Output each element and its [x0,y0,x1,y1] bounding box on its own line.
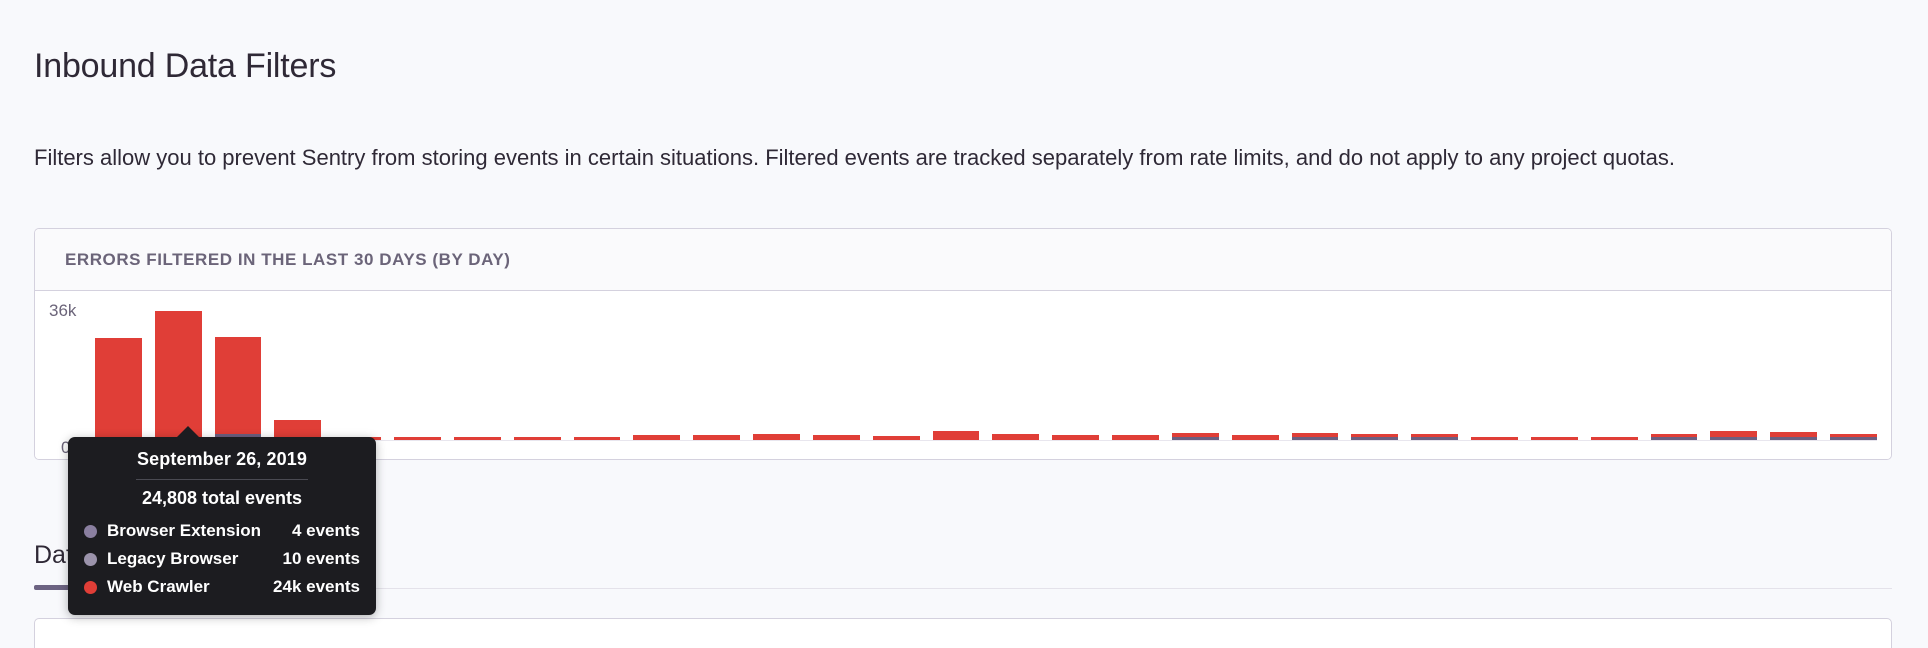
bar-segment [1651,437,1698,440]
bar-segment [1172,437,1219,440]
bar-column[interactable] [933,299,980,440]
bar-segment [1052,435,1099,441]
bar-column[interactable] [155,299,202,440]
bar-series-container [95,299,1877,440]
bar-column[interactable] [1351,299,1398,440]
bar-segment [813,435,860,440]
bar-segment [992,434,1039,440]
bar-column[interactable] [274,299,321,440]
tooltip-row: Browser Extension4 events [68,517,376,545]
bar-column[interactable] [334,299,381,440]
bar-segment [693,435,740,440]
bar-segment [155,311,202,440]
tooltip-series-label: Browser Extension [107,521,292,541]
bar-column[interactable] [753,299,800,440]
bar-segment [215,337,262,434]
tooltip-row: Web Crawler24k events [68,573,376,601]
tooltip-arrow-icon [176,426,200,438]
bar-column[interactable] [95,299,142,440]
chart-plot-area: 36k 0 [35,291,1891,460]
bar-segment [1830,437,1877,440]
bar-column[interactable] [1531,299,1578,440]
bar-segment [933,431,980,440]
tooltip-divider [136,479,308,480]
bar-column[interactable] [813,299,860,440]
bar-segment [633,435,680,441]
errors-filtered-chart-panel: ERRORS FILTERED IN THE LAST 30 DAYS (BY … [34,228,1892,460]
chart-panel-header: ERRORS FILTERED IN THE LAST 30 DAYS (BY … [35,229,1891,291]
bar-column[interactable] [1770,299,1817,440]
page-title: Inbound Data Filters [34,47,336,86]
bar-segment [1232,435,1279,441]
bar-column[interactable] [873,299,920,440]
bar-segment [1710,437,1757,440]
bar-segment [1770,437,1817,440]
tooltip-series-value: 10 events [283,549,361,569]
bar-segment [1292,437,1339,440]
bar-segment [574,437,621,440]
bar-column[interactable] [1830,299,1877,440]
tooltip-total: 24,808 total events [68,488,376,517]
bar-column[interactable] [1172,299,1219,440]
bar-column[interactable] [633,299,680,440]
bar-column[interactable] [1471,299,1518,440]
bar-column[interactable] [992,299,1039,440]
bar-column[interactable] [1232,299,1279,440]
tooltip-series-value: 4 events [292,521,360,541]
page-description: Filters allow you to prevent Sentry from… [34,139,1879,177]
data-filters-panel [34,618,1892,648]
bar-column[interactable] [514,299,561,440]
chart-panel-title: ERRORS FILTERED IN THE LAST 30 DAYS (BY … [65,250,511,270]
bar-segment [95,338,142,440]
bar-column[interactable] [1112,299,1159,440]
bar-column[interactable] [1052,299,1099,440]
bar-column[interactable] [454,299,501,440]
series-color-dot-icon [84,581,97,594]
chart-tooltip: September 26, 2019 24,808 total events B… [68,437,376,615]
tooltip-row: Legacy Browser10 events [68,545,376,573]
bar-column[interactable] [1710,299,1757,440]
bar-segment [1411,437,1458,440]
bar-column[interactable] [574,299,621,440]
tooltip-series-label: Web Crawler [107,577,273,597]
tooltip-series-value: 24k events [273,577,360,597]
bar-segment [514,437,561,440]
bar-segment [1471,437,1518,440]
bar-segment [1591,437,1638,440]
y-axis-max-label: 36k [49,301,76,321]
bar-column[interactable] [394,299,441,440]
series-color-dot-icon [84,525,97,538]
bar-segment [873,436,920,440]
page-root: Inbound Data Filters Filters allow you t… [0,0,1928,648]
bar-column[interactable] [215,299,262,440]
bar-segment [394,437,441,440]
bar-column[interactable] [693,299,740,440]
bar-column[interactable] [1591,299,1638,440]
bar-segment [1351,437,1398,440]
series-color-dot-icon [84,553,97,566]
bar-segment [454,437,501,440]
tooltip-date: September 26, 2019 [68,449,376,479]
bar-column[interactable] [1292,299,1339,440]
bar-segment [1531,437,1578,440]
tooltip-series-rows: Browser Extension4 eventsLegacy Browser1… [68,517,376,601]
bar-segment [1112,435,1159,440]
bar-column[interactable] [1411,299,1458,440]
tooltip-series-label: Legacy Browser [107,549,283,569]
bar-segment [753,434,800,440]
bar-column[interactable] [1651,299,1698,440]
